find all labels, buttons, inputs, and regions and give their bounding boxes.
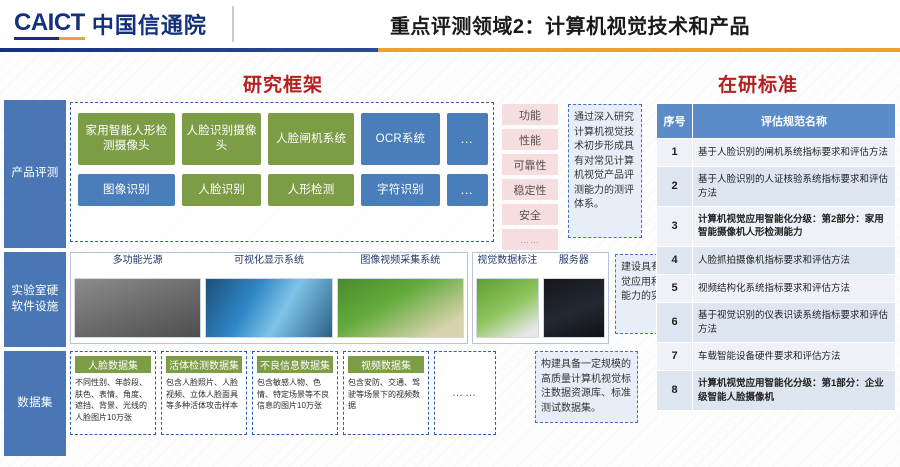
dataset-card[interactable]: 人脸数据集 不同性别、年龄段、肤色、表情、角度、遮挡、背景、光线的人脸图片10万… <box>70 351 156 435</box>
capability-chip-more[interactable]: … <box>447 174 488 206</box>
cell-no: 1 <box>657 139 693 167</box>
lab-photo-display-system <box>205 278 332 338</box>
lab-caption: 可视化显示系统 <box>234 256 304 278</box>
attribute-cell: 功能 <box>502 104 558 125</box>
logo-divider <box>232 6 234 42</box>
lab-photo-server <box>543 278 606 338</box>
product-chip[interactable]: OCR系统 <box>361 113 441 165</box>
dataset-card-text: 包含安防、交通、驾驶等场景下的视频数据 <box>348 377 424 412</box>
lab-photo-annotation <box>476 278 539 338</box>
table-row[interactable]: 4 人脸抓拍摄像机指标要求和评估方法 <box>657 246 896 274</box>
product-chip[interactable]: 家用智能人形检测摄像头 <box>78 113 175 165</box>
row-datasets: 数据集 人脸数据集 不同性别、年龄段、肤色、表情、角度、遮挡、背景、光线的人脸图… <box>4 351 649 456</box>
lab-photo-capture-system <box>337 278 464 338</box>
column-header-name: 评估规范名称 <box>693 104 896 139</box>
cell-no: 5 <box>657 274 693 302</box>
attribute-cell-more: …… <box>502 229 558 250</box>
slide-root: CAICT 中国信通院 重点评测领域2：计算机视觉技术和产品 研究框架 在研标准… <box>0 0 900 467</box>
sidebar-label-lab: 实验室硬软件设施 <box>4 252 66 347</box>
lab-item[interactable]: 图像视频采集系统 <box>337 256 464 340</box>
lab-photo-light-source <box>74 278 201 338</box>
cell-no: 4 <box>657 246 693 274</box>
lab-equipment-group-1: 多功能光源 可视化显示系统 图像视频采集系统 <box>70 252 468 344</box>
product-chip[interactable]: 人脸闸机系统 <box>268 113 353 165</box>
evaluation-attributes-column: 功能 性能 可靠性 稳定性 安全 …… <box>502 104 558 254</box>
lab-caption: 图像视频采集系统 <box>360 256 440 278</box>
dataset-card-list: 人脸数据集 不同性别、年龄段、肤色、表情、角度、遮挡、背景、光线的人脸图片10万… <box>70 351 525 435</box>
cell-no: 8 <box>657 371 693 411</box>
caict-logo: CAICT 中国信通院 <box>14 8 207 40</box>
logo-text-en: CAICT <box>14 9 85 40</box>
cell-no: 3 <box>657 206 693 246</box>
product-chip-more[interactable]: … <box>447 113 488 165</box>
cell-name: 人脸抓拍摄像机指标要求和评估方法 <box>693 246 896 274</box>
lab-item[interactable]: 多功能光源 <box>74 256 201 340</box>
table-header-row: 序号 评估规范名称 <box>657 104 896 139</box>
attribute-cell: 稳定性 <box>502 179 558 200</box>
header-rule <box>0 48 900 52</box>
cell-name: 基于视觉识别的仪表识读系统指标要求和评估方法 <box>693 303 896 343</box>
lab-item[interactable]: 可视化显示系统 <box>205 256 332 340</box>
capability-chip[interactable]: 字符识别 <box>361 174 441 206</box>
product-dashed-container: 家用智能人形检测摄像头 人脸识别摄像头 人脸闸机系统 OCR系统 … 图像识别 … <box>70 102 494 242</box>
sidebar-label-dataset: 数据集 <box>4 351 66 456</box>
dataset-card[interactable]: 活体检测数据集 包含人脸照片、人脸视频、立体人脸面具等多种活体攻击样本 <box>161 351 247 435</box>
table-row[interactable]: 8 计算机视觉应用智能化分级：第1部分：企业级智能人脸摄像机 <box>657 371 896 411</box>
dataset-card-more[interactable]: …… <box>434 351 496 435</box>
product-chip-row-2: 图像识别 人脸识别 人形检测 字符识别 … <box>78 174 488 206</box>
dataset-card[interactable]: 视频数据集 包含安防、交通、驾驶等场景下的视频数据 <box>343 351 429 435</box>
logo-text-cn: 中国信通院 <box>92 8 207 40</box>
cell-name: 车载智能设备硬件要求和评估方法 <box>693 342 896 370</box>
cell-no: 6 <box>657 303 693 343</box>
attribute-cell: 性能 <box>502 129 558 150</box>
sidebar-label-product: 产品评测 <box>4 100 66 248</box>
lab-caption: 服务器 <box>559 256 589 278</box>
attribute-cell: 安全 <box>502 204 558 225</box>
table-row[interactable]: 7 车载智能设备硬件要求和评估方法 <box>657 342 896 370</box>
table-row[interactable]: 5 视频结构化系统指标要求和评估方法 <box>657 274 896 302</box>
cell-no: 2 <box>657 167 693 207</box>
cell-no: 7 <box>657 342 693 370</box>
dataset-card-title: 人脸数据集 <box>75 356 151 373</box>
table-row[interactable]: 3 计算机视觉应用智能化分级：第2部分：家用智能摄像机人形检测能力 <box>657 206 896 246</box>
dataset-card-text: 包含人脸照片、人脸视频、立体人脸面具等多种活体攻击样本 <box>166 377 242 412</box>
row-product-evaluation: 产品评测 家用智能人形检测摄像头 人脸识别摄像头 人脸闸机系统 OCR系统 … … <box>4 100 649 248</box>
lab-item[interactable]: 视觉数据标注 <box>476 256 539 340</box>
standards-table: 序号 评估规范名称 1 基于人脸识别的闸机系统指标要求和评估方法 2 基于人脸识… <box>656 103 896 411</box>
note-datasets: 构建具备一定规模的高质量计算机视觉标注数据资源库、标准测试数据集。 <box>535 351 638 423</box>
dataset-card-title: 视频数据集 <box>348 356 424 373</box>
row-lab-facilities: 实验室硬软件设施 多功能光源 可视化显示系统 图像视频采集系统 <box>4 252 649 347</box>
table-row[interactable]: 2 基于人脸识别的人证核验系统指标要求和评估方法 <box>657 167 896 207</box>
capability-chip[interactable]: 人脸识别 <box>182 174 262 206</box>
capability-chip[interactable]: 图像识别 <box>78 174 175 206</box>
row-lab-body: 多功能光源 可视化显示系统 图像视频采集系统 视觉数据标注 <box>70 252 649 347</box>
row-dataset-body: 人脸数据集 不同性别、年龄段、肤色、表情、角度、遮挡、背景、光线的人脸图片10万… <box>70 351 649 456</box>
page-title: 重点评测领域2：计算机视觉技术和产品 <box>250 10 890 39</box>
product-chip-grid: 家用智能人形检测摄像头 人脸识别摄像头 人脸闸机系统 OCR系统 … 图像识别 … <box>78 113 488 215</box>
section-title-standards: 在研标准 <box>718 70 798 97</box>
lab-caption: 视觉数据标注 <box>477 256 537 278</box>
cell-name: 视频结构化系统指标要求和评估方法 <box>693 274 896 302</box>
column-header-no: 序号 <box>657 104 693 139</box>
lab-equipment-group-2: 视觉数据标注 服务器 <box>472 252 609 344</box>
dataset-card-text: 包含敏感人物、色情、特定场景等不良信息的图片10万张 <box>257 377 333 412</box>
slide-header: CAICT 中国信通院 重点评测领域2：计算机视觉技术和产品 <box>0 0 900 52</box>
framework-panel: 产品评测 家用智能人形检测摄像头 人脸识别摄像头 人脸闸机系统 OCR系统 … … <box>4 100 649 460</box>
dataset-card-text: 不同性别、年龄段、肤色、表情、角度、遮挡、背景、光线的人脸图片10万张 <box>75 377 151 423</box>
cell-name: 计算机视觉应用智能化分级：第1部分：企业级智能人脸摄像机 <box>693 371 896 411</box>
dataset-card-title: 活体检测数据集 <box>166 356 242 373</box>
table-row[interactable]: 1 基于人脸识别的闸机系统指标要求和评估方法 <box>657 139 896 167</box>
section-title-framework: 研究框架 <box>243 70 323 97</box>
dataset-card-title: 不良信息数据集 <box>257 356 333 373</box>
product-chip-row-1: 家用智能人形检测摄像头 人脸识别摄像头 人脸闸机系统 OCR系统 … <box>78 113 488 165</box>
cell-name: 基于人脸识别的人证核验系统指标要求和评估方法 <box>693 167 896 207</box>
cell-name: 基于人脸识别的闸机系统指标要求和评估方法 <box>693 139 896 167</box>
dataset-card[interactable]: 不良信息数据集 包含敏感人物、色情、特定场景等不良信息的图片10万张 <box>252 351 338 435</box>
lab-item[interactable]: 服务器 <box>543 256 606 340</box>
attribute-cell: 可靠性 <box>502 154 558 175</box>
product-chip[interactable]: 人脸识别摄像头 <box>182 113 262 165</box>
lab-caption: 多功能光源 <box>113 256 163 278</box>
note-product-evaluation: 通过深入研究计算机视觉技术初步形成具有对常见计算机视觉产品评测能力的测评体系。 <box>568 104 642 238</box>
cell-name: 计算机视觉应用智能化分级：第2部分：家用智能摄像机人形检测能力 <box>693 206 896 246</box>
capability-chip[interactable]: 人形检测 <box>268 174 353 206</box>
table-row[interactable]: 6 基于视觉识别的仪表识读系统指标要求和评估方法 <box>657 303 896 343</box>
row-product-body: 家用智能人形检测摄像头 人脸识别摄像头 人脸闸机系统 OCR系统 … 图像识别 … <box>70 100 649 248</box>
